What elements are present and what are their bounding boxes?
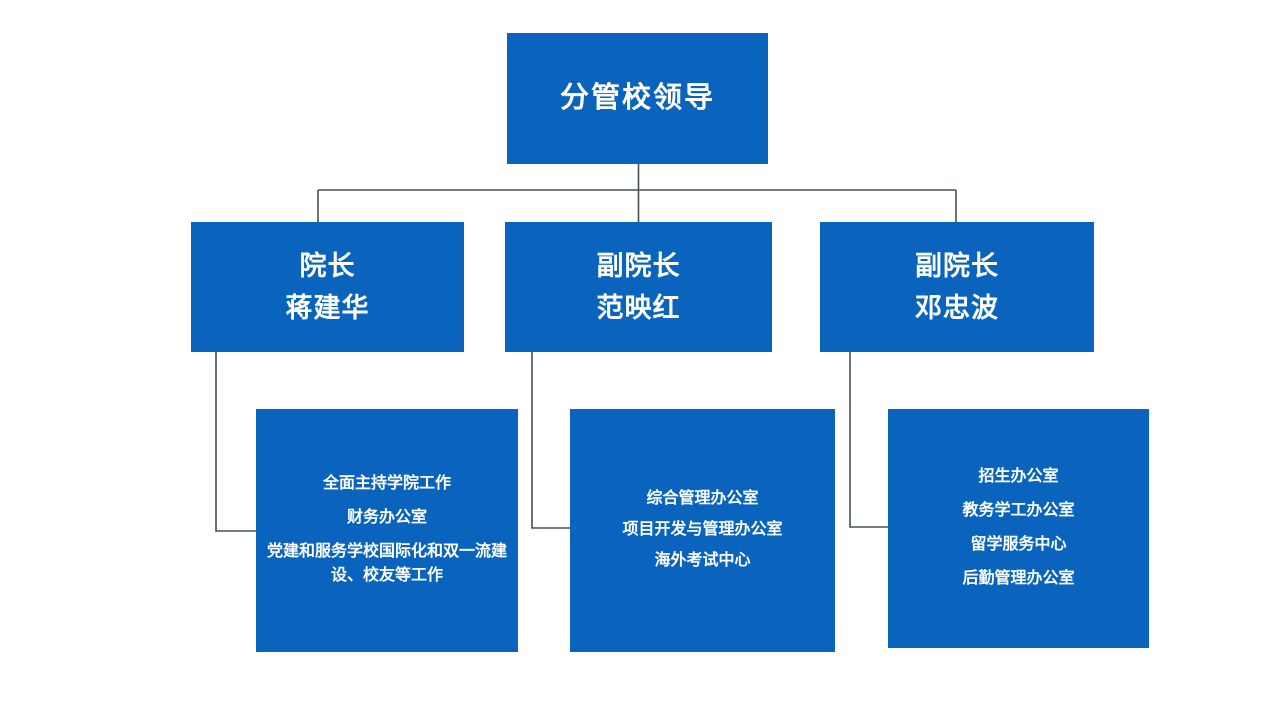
node-branch-1[interactable]: 院长 蒋建华 [191,222,464,352]
detail-2-item-1: 综合管理办公室 [646,487,758,512]
detail-1-item-3: 党建和服务学校国际化和双一流建设、校友等工作 [266,540,508,590]
node-root-label: 分管校领导 [560,79,715,118]
node-root[interactable]: 分管校领导 [507,33,768,164]
node-branch-3-title: 副院长 [915,248,999,284]
node-branch-1-name: 蒋建华 [286,290,370,326]
node-branch-1-title: 院长 [300,248,356,284]
detail-3-item-4: 后勤管理办公室 [962,567,1074,592]
node-detail-3[interactable]: 招生办公室 教务学工办公室 留学服务中心 后勤管理办公室 [888,409,1149,648]
node-branch-2[interactable]: 副院长 范映红 [505,222,772,352]
connector-branch-2-to-detail [532,352,570,528]
node-branch-2-name: 范映红 [597,290,681,326]
detail-3-item-1: 招生办公室 [978,465,1058,490]
node-detail-1[interactable]: 全面主持学院工作 财务办公室 党建和服务学校国际化和双一流建设、校友等工作 [256,409,518,652]
detail-2-item-3: 海外考试中心 [654,549,750,574]
node-branch-3-name: 邓忠波 [915,290,999,326]
detail-2-item-2: 项目开发与管理办公室 [622,518,782,543]
node-branch-2-title: 副院长 [597,248,681,284]
node-detail-2[interactable]: 综合管理办公室 项目开发与管理办公室 海外考试中心 [570,409,835,652]
org-chart: 分管校领导 院长 蒋建华 副院长 范映红 副院长 邓忠波 全面主持学院工作 财务… [0,0,1280,720]
connector-branch-3-to-detail [850,352,888,527]
node-branch-3[interactable]: 副院长 邓忠波 [820,222,1094,352]
detail-3-item-2: 教务学工办公室 [962,499,1074,524]
detail-1-item-1: 全面主持学院工作 [323,472,451,497]
connector-branch-1-to-detail [216,352,256,531]
detail-1-item-2: 财务办公室 [347,506,427,531]
detail-3-item-3: 留学服务中心 [970,533,1066,558]
